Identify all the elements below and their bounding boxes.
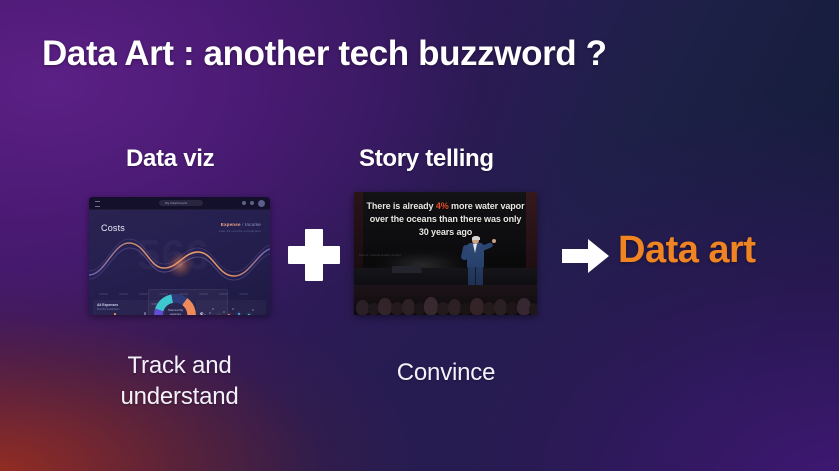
page-title: Data Art : another tech buzzword ?	[42, 34, 607, 74]
caption-line-1: Track and	[127, 352, 231, 379]
bar-panel-subtitle: Monthly breakdown	[97, 308, 120, 311]
arrow-right-icon	[562, 236, 610, 276]
hamburger-menu-icon	[95, 201, 100, 207]
bar-panel-title: All Expenses	[97, 303, 118, 307]
column-caption-story-telling: Convince	[355, 358, 537, 389]
quote-highlight: 4%	[436, 201, 449, 211]
audience-silhouettes	[354, 285, 537, 315]
story-telling-photo: There is already 4% more water vapor ove…	[354, 192, 537, 315]
plus-icon	[288, 229, 340, 281]
data-viz-dashboard-image: My Dashboard 566 Costs Expense / Income …	[89, 197, 270, 315]
speaker-figure	[466, 236, 485, 288]
bell-icon	[250, 201, 254, 205]
search-icon	[242, 201, 246, 205]
slide-canvas: Data Art : another tech buzzword ? Data …	[0, 0, 839, 471]
donut-center-label: Total monthly expenses	[163, 309, 188, 315]
avatar	[258, 200, 265, 207]
dashboard-world-map-panel	[196, 300, 266, 315]
dashboard-topbar: My Dashboard	[89, 197, 270, 210]
donut-center-line1: Total monthly	[168, 309, 183, 312]
dashboard-search-label: My Dashboard	[165, 201, 187, 205]
quote-part-1: There is already	[367, 201, 436, 211]
caption-line-2: understand	[120, 383, 238, 410]
donut-center-line2: expenses	[170, 313, 181, 315]
column-heading-data-viz: Data viz	[126, 145, 214, 173]
column-caption-data-viz: Track and understand	[77, 351, 282, 412]
slide-quote-text: There is already 4% more water vapor ove…	[364, 200, 527, 238]
wave-highlight-glow	[167, 252, 193, 278]
column-heading-story-telling: Story telling	[359, 145, 494, 173]
result-label-data-art: Data art	[618, 229, 756, 272]
stage-monitor	[392, 266, 422, 273]
